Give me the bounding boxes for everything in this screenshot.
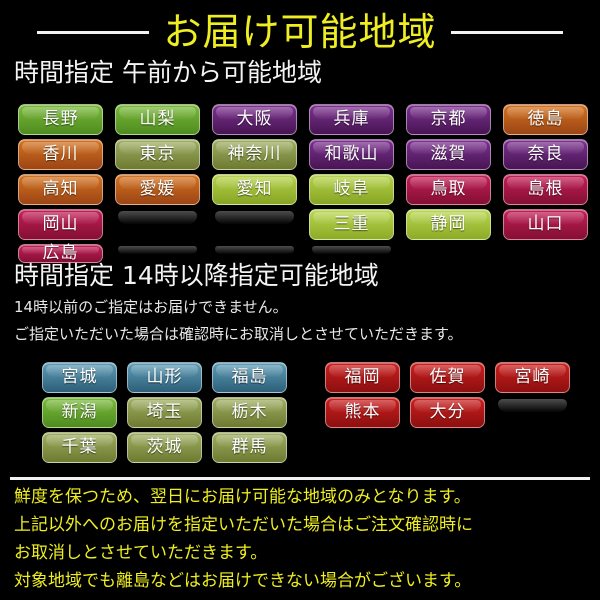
prefecture-chip[interactable]: 三重 xyxy=(309,209,394,240)
prefecture-label: 長野 xyxy=(43,111,79,128)
prefecture-chip[interactable]: 山梨 xyxy=(115,104,200,135)
prefecture-chip[interactable]: 東京 xyxy=(115,139,200,170)
prefecture-label: 大阪 xyxy=(237,111,273,128)
prefecture-chip[interactable]: 山口 xyxy=(503,209,588,240)
prefecture-label: 大分 xyxy=(430,404,466,421)
prefecture-chip[interactable]: 佐賀 xyxy=(410,362,485,393)
footer-line-2: 上記以外へのお届けを指定いただいた場合はご注文確認時に xyxy=(14,517,473,534)
prefecture-label: 埼玉 xyxy=(147,404,183,421)
prefecture-label: 広島 xyxy=(43,245,79,262)
prefecture-chip[interactable]: 島根 xyxy=(503,174,588,205)
prefecture-chip[interactable]: 山形 xyxy=(127,362,202,393)
prefecture-chip[interactable]: 鳥取 xyxy=(406,174,491,205)
title-rule-right xyxy=(451,31,563,34)
prefecture-chip[interactable]: 高知 xyxy=(18,174,103,205)
prefecture-label: 静岡 xyxy=(431,216,467,233)
title-row: お届け可能地域 xyxy=(0,8,600,56)
footer-line-3: お取消しとさせていただきます。 xyxy=(14,545,267,562)
prefecture-label: 愛知 xyxy=(237,181,273,198)
prefecture-chip[interactable]: 静岡 xyxy=(406,209,491,240)
prefecture-label: 滋賀 xyxy=(431,146,467,163)
prefecture-chip[interactable]: 和歌山 xyxy=(309,139,394,170)
prefecture-label: 熊本 xyxy=(345,404,381,421)
title-rule-left xyxy=(37,31,149,34)
prefecture-label: 宮崎 xyxy=(515,369,551,386)
chip-spacer xyxy=(495,397,570,428)
afternoon-note-2: ご指定いただいた場合は確認時にお取消しとさせていただきます。 xyxy=(14,327,463,342)
prefecture-label: 神奈川 xyxy=(228,146,282,163)
prefecture-grid-morning: 長野山梨大阪兵庫京都徳島香川東京神奈川和歌山滋賀奈良高知愛媛愛知岐阜鳥取島根岡山… xyxy=(18,104,584,263)
prefecture-label: 徳島 xyxy=(528,111,564,128)
prefecture-label: 福岡 xyxy=(345,369,381,386)
prefecture-chip[interactable]: 福岡 xyxy=(325,362,400,393)
chip-spacer xyxy=(212,209,297,240)
prefecture-grid-afternoon-right: 福岡佐賀宮崎熊本大分 xyxy=(325,362,570,428)
delivery-area-graphic: お届け可能地域 時間指定 午前から可能地域 長野山梨大阪兵庫京都徳島香川東京神奈… xyxy=(0,0,600,600)
prefecture-chip[interactable]: 滋賀 xyxy=(406,139,491,170)
prefecture-chip[interactable]: 岐阜 xyxy=(309,174,394,205)
prefecture-chip[interactable]: 福島 xyxy=(212,362,287,393)
prefecture-label: 愛媛 xyxy=(140,181,176,198)
prefecture-label: 山形 xyxy=(147,369,183,386)
prefecture-label: 栃木 xyxy=(232,404,268,421)
prefecture-chip[interactable]: 栃木 xyxy=(212,397,287,428)
prefecture-chip[interactable]: 神奈川 xyxy=(212,139,297,170)
chip-spacer xyxy=(115,209,200,240)
prefecture-chip[interactable]: 岡山 xyxy=(18,209,103,240)
prefecture-chip[interactable]: 愛媛 xyxy=(115,174,200,205)
prefecture-chip[interactable]: 大分 xyxy=(410,397,485,428)
prefecture-label: 宮城 xyxy=(62,369,98,386)
prefecture-chip[interactable]: 宮崎 xyxy=(495,362,570,393)
footer-line-4: 対象地域でも離島などはお届けできない場合がございます。 xyxy=(14,573,471,590)
prefecture-label: 群馬 xyxy=(232,439,268,456)
prefecture-chip[interactable]: 長野 xyxy=(18,104,103,135)
prefecture-chip[interactable]: 熊本 xyxy=(325,397,400,428)
prefecture-label: 鳥取 xyxy=(431,181,467,198)
prefecture-label: 岐阜 xyxy=(334,181,370,198)
afternoon-note-1: 14時以前のご指定はお届けできません。 xyxy=(14,300,288,315)
footer-divider xyxy=(10,477,590,480)
prefecture-label: 香川 xyxy=(43,146,79,163)
prefecture-label: 奈良 xyxy=(528,146,564,163)
page-title: お届け可能地域 xyxy=(163,13,436,51)
prefecture-chip[interactable]: 兵庫 xyxy=(309,104,394,135)
prefecture-chip[interactable]: 群馬 xyxy=(212,432,287,463)
footer-line-1: 鮮度を保つため、翌日にお届け可能な地域のみとなります。 xyxy=(14,489,471,506)
prefecture-label: 東京 xyxy=(140,146,176,163)
prefecture-label: 兵庫 xyxy=(334,111,370,128)
section-heading-afternoon: 時間指定 14時以降指定可能地域 xyxy=(14,263,379,288)
prefecture-label: 茨城 xyxy=(147,439,183,456)
prefecture-chip[interactable]: 愛知 xyxy=(212,174,297,205)
prefecture-label: 和歌山 xyxy=(325,146,379,163)
prefecture-label: 福島 xyxy=(232,369,268,386)
prefecture-label: 佐賀 xyxy=(430,369,466,386)
prefecture-chip[interactable]: 奈良 xyxy=(503,139,588,170)
prefecture-chip[interactable]: 新潟 xyxy=(42,397,117,428)
prefecture-chip[interactable]: 大阪 xyxy=(212,104,297,135)
prefecture-chip[interactable]: 京都 xyxy=(406,104,491,135)
prefecture-label: 高知 xyxy=(43,181,79,198)
prefecture-chip[interactable]: 宮城 xyxy=(42,362,117,393)
prefecture-chip[interactable]: 千葉 xyxy=(42,432,117,463)
prefecture-chip[interactable]: 茨城 xyxy=(127,432,202,463)
prefecture-label: 千葉 xyxy=(62,439,98,456)
prefecture-label: 京都 xyxy=(431,111,467,128)
prefecture-chip[interactable]: 徳島 xyxy=(503,104,588,135)
prefecture-chip[interactable]: 埼玉 xyxy=(127,397,202,428)
prefecture-label: 山梨 xyxy=(140,111,176,128)
prefecture-chip[interactable]: 香川 xyxy=(18,139,103,170)
section-heading-morning: 時間指定 午前から可能地域 xyxy=(14,60,322,85)
prefecture-label: 山口 xyxy=(528,216,564,233)
prefecture-label: 岡山 xyxy=(43,216,79,233)
prefecture-label: 島根 xyxy=(528,181,564,198)
prefecture-grid-afternoon-left: 宮城山形福島新潟埼玉栃木千葉茨城群馬 xyxy=(42,362,287,463)
prefecture-label: 三重 xyxy=(334,216,370,233)
prefecture-label: 新潟 xyxy=(62,404,98,421)
